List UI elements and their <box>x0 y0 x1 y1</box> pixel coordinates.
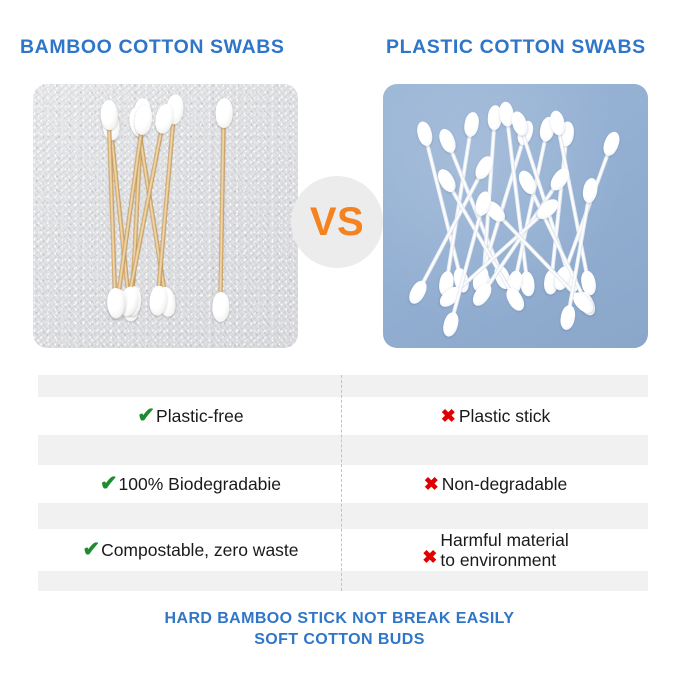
vs-badge: VS <box>291 176 383 268</box>
table-cell-plastic: ✖ Non-degradable <box>343 465 648 503</box>
check-icon: ✔ <box>82 538 100 562</box>
tagline: HARD BAMBOO STICK NOT BREAK EASILY SOFT … <box>0 608 679 650</box>
tagline-line-1: HARD BAMBOO STICK NOT BREAK EASILY <box>0 608 679 629</box>
table-cell-plastic: ✖ Harmful material to environment <box>343 529 648 571</box>
feature-label: Harmful material to environment <box>440 530 568 570</box>
cross-icon: ✖ <box>441 406 456 427</box>
table-row: ✔ 100% Biodegradabie ✖ Non-degradable <box>38 465 648 503</box>
cross-icon: ✖ <box>424 474 439 495</box>
check-icon: ✔ <box>100 472 118 496</box>
column-title-plastic: PLASTIC COTTON SWABS <box>386 34 646 60</box>
table-cell-bamboo: ✔ Plastic-free <box>38 397 343 435</box>
feature-label: Plastic-free <box>156 406 244 426</box>
feature-label: 100% Biodegradabie <box>119 474 282 494</box>
tagline-line-2: SOFT COTTON BUDS <box>0 629 679 650</box>
infographic-canvas: BAMBOO COTTON SWABS PLASTIC COTTON SWABS <box>0 0 679 679</box>
comparison-table: ✔ Plastic-free ✖ Plastic stick ✔ 100% Bi… <box>38 375 648 591</box>
column-title-bamboo: BAMBOO COTTON SWABS <box>20 34 285 60</box>
cross-icon: ✖ <box>422 547 437 568</box>
table-cell-bamboo: ✔ 100% Biodegradabie <box>38 465 343 503</box>
feature-label: Compostable, zero waste <box>101 540 298 560</box>
table-cell-plastic: ✖ Plastic stick <box>343 397 648 435</box>
table-cell-bamboo: ✔ Compostable, zero waste <box>38 529 343 571</box>
table-stripe <box>38 503 648 529</box>
table-stripe <box>38 435 648 465</box>
vs-label: VS <box>310 202 364 242</box>
plastic-swabs-photo <box>383 84 648 348</box>
column-headers: BAMBOO COTTON SWABS PLASTIC COTTON SWABS <box>0 34 679 60</box>
bamboo-swab-single <box>211 114 232 306</box>
bamboo-swabs-photo <box>33 84 298 348</box>
table-stripe <box>38 571 648 591</box>
table-stripe <box>38 375 648 397</box>
feature-label: Non-degradable <box>442 474 568 494</box>
table-row: ✔ Compostable, zero waste ✖ Harmful mate… <box>38 529 648 571</box>
feature-label: Plastic stick <box>459 406 550 426</box>
check-icon: ✔ <box>137 404 155 428</box>
table-row: ✔ Plastic-free ✖ Plastic stick <box>38 397 648 435</box>
